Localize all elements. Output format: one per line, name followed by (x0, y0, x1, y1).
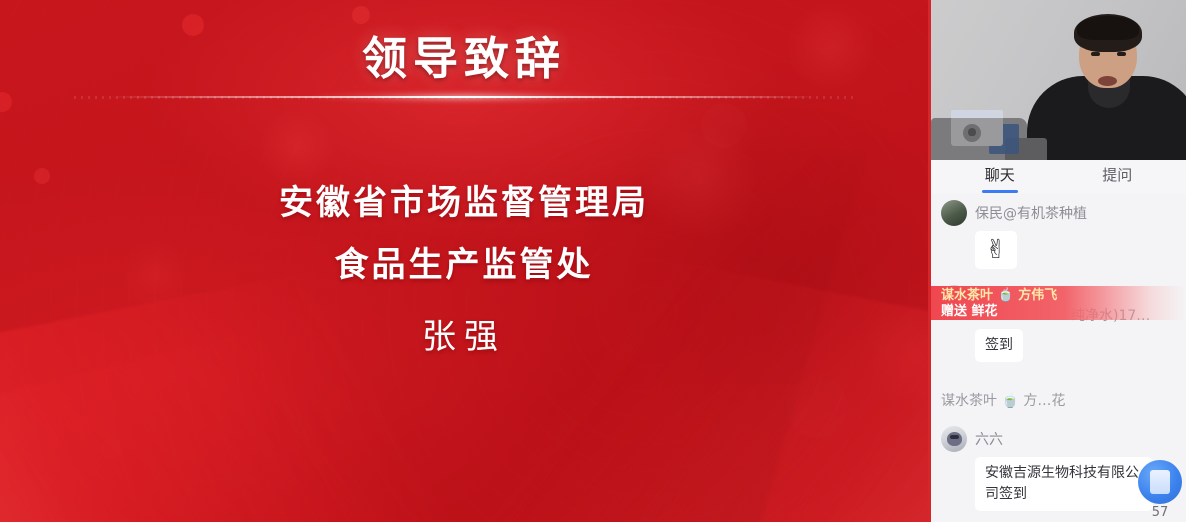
speaker-video-feed[interactable] (931, 0, 1186, 160)
slide-title: 领导致辞 (0, 22, 928, 87)
chat-message: 保民@有机茶种植 ✌ (931, 196, 1186, 271)
divider-dust (74, 96, 854, 99)
video-person-mouth (1098, 76, 1117, 86)
gift-sender-name: 谋水茶叶 🍵 方伟飞 (941, 287, 1186, 304)
video-desk-box-top (951, 110, 1003, 118)
chat-sender-name: 保民@有机茶种植 (975, 203, 1087, 223)
slide-body-line-1: 安徽省市场监督管理局 (0, 172, 928, 234)
gift-counter[interactable]: 57 (1138, 460, 1182, 520)
avatar[interactable] (941, 200, 967, 226)
slide-divider-light (0, 88, 928, 106)
chat-message-header: 保民@有机茶种植 (941, 200, 1176, 226)
chat-message-header: 六六 (941, 426, 1176, 452)
video-person-eye-left (1091, 52, 1100, 56)
chat-message-list[interactable]: 保民@有机茶种植 ✌ 纯净水)17… 签到 谋水茶叶 🍵 方…花 六六 (931, 194, 1186, 522)
gift-box-icon[interactable] (1138, 460, 1182, 504)
bokeh-dot (0, 92, 12, 112)
divider-glow (241, 88, 686, 106)
chat-message: 签到 (931, 325, 1186, 364)
divider-core (111, 96, 816, 98)
tab-qa[interactable]: 提问 (1059, 160, 1177, 194)
side-panel: 聊天 提问 保民@有机茶种植 ✌ 纯净水)17… 签到 (928, 0, 1186, 522)
slide-body-line-2: 食品生产监管处 (0, 234, 928, 296)
broadcast-screen: 领导致辞 安徽省市场监督管理局 食品生产监管处 张强 (0, 0, 1186, 522)
avatar[interactable] (941, 426, 967, 452)
tab-chat[interactable]: 聊天 (941, 160, 1059, 194)
gift-action-text: 赠送 鲜花 (941, 304, 1186, 320)
video-person-eye-right (1117, 52, 1126, 56)
panel-tabs: 聊天 提问 (931, 160, 1186, 194)
chat-sticker-bubble: ✌ (975, 231, 1017, 269)
chat-text-bubble: 安徽吉源生物科技有限公司签到 (975, 457, 1153, 511)
video-badge-icon (963, 124, 981, 142)
gift-count-label: 57 (1152, 505, 1169, 520)
presentation-slide: 领导致辞 安徽省市场监督管理局 食品生产监管处 张强 (0, 0, 928, 522)
gift-notification-banner: 谋水茶叶 🍵 方伟飞 赠送 鲜花 (931, 286, 1186, 320)
slide-body: 安徽省市场监督管理局 食品生产监管处 张强 (0, 172, 928, 368)
chat-text-bubble: 签到 (975, 329, 1023, 362)
chat-message-faded: 谋水茶叶 🍵 方…花 (931, 364, 1186, 410)
video-person-hair-top (1077, 16, 1139, 40)
slide-speaker-name: 张强 (0, 306, 928, 368)
chat-sender-name: 六六 (975, 429, 1003, 449)
